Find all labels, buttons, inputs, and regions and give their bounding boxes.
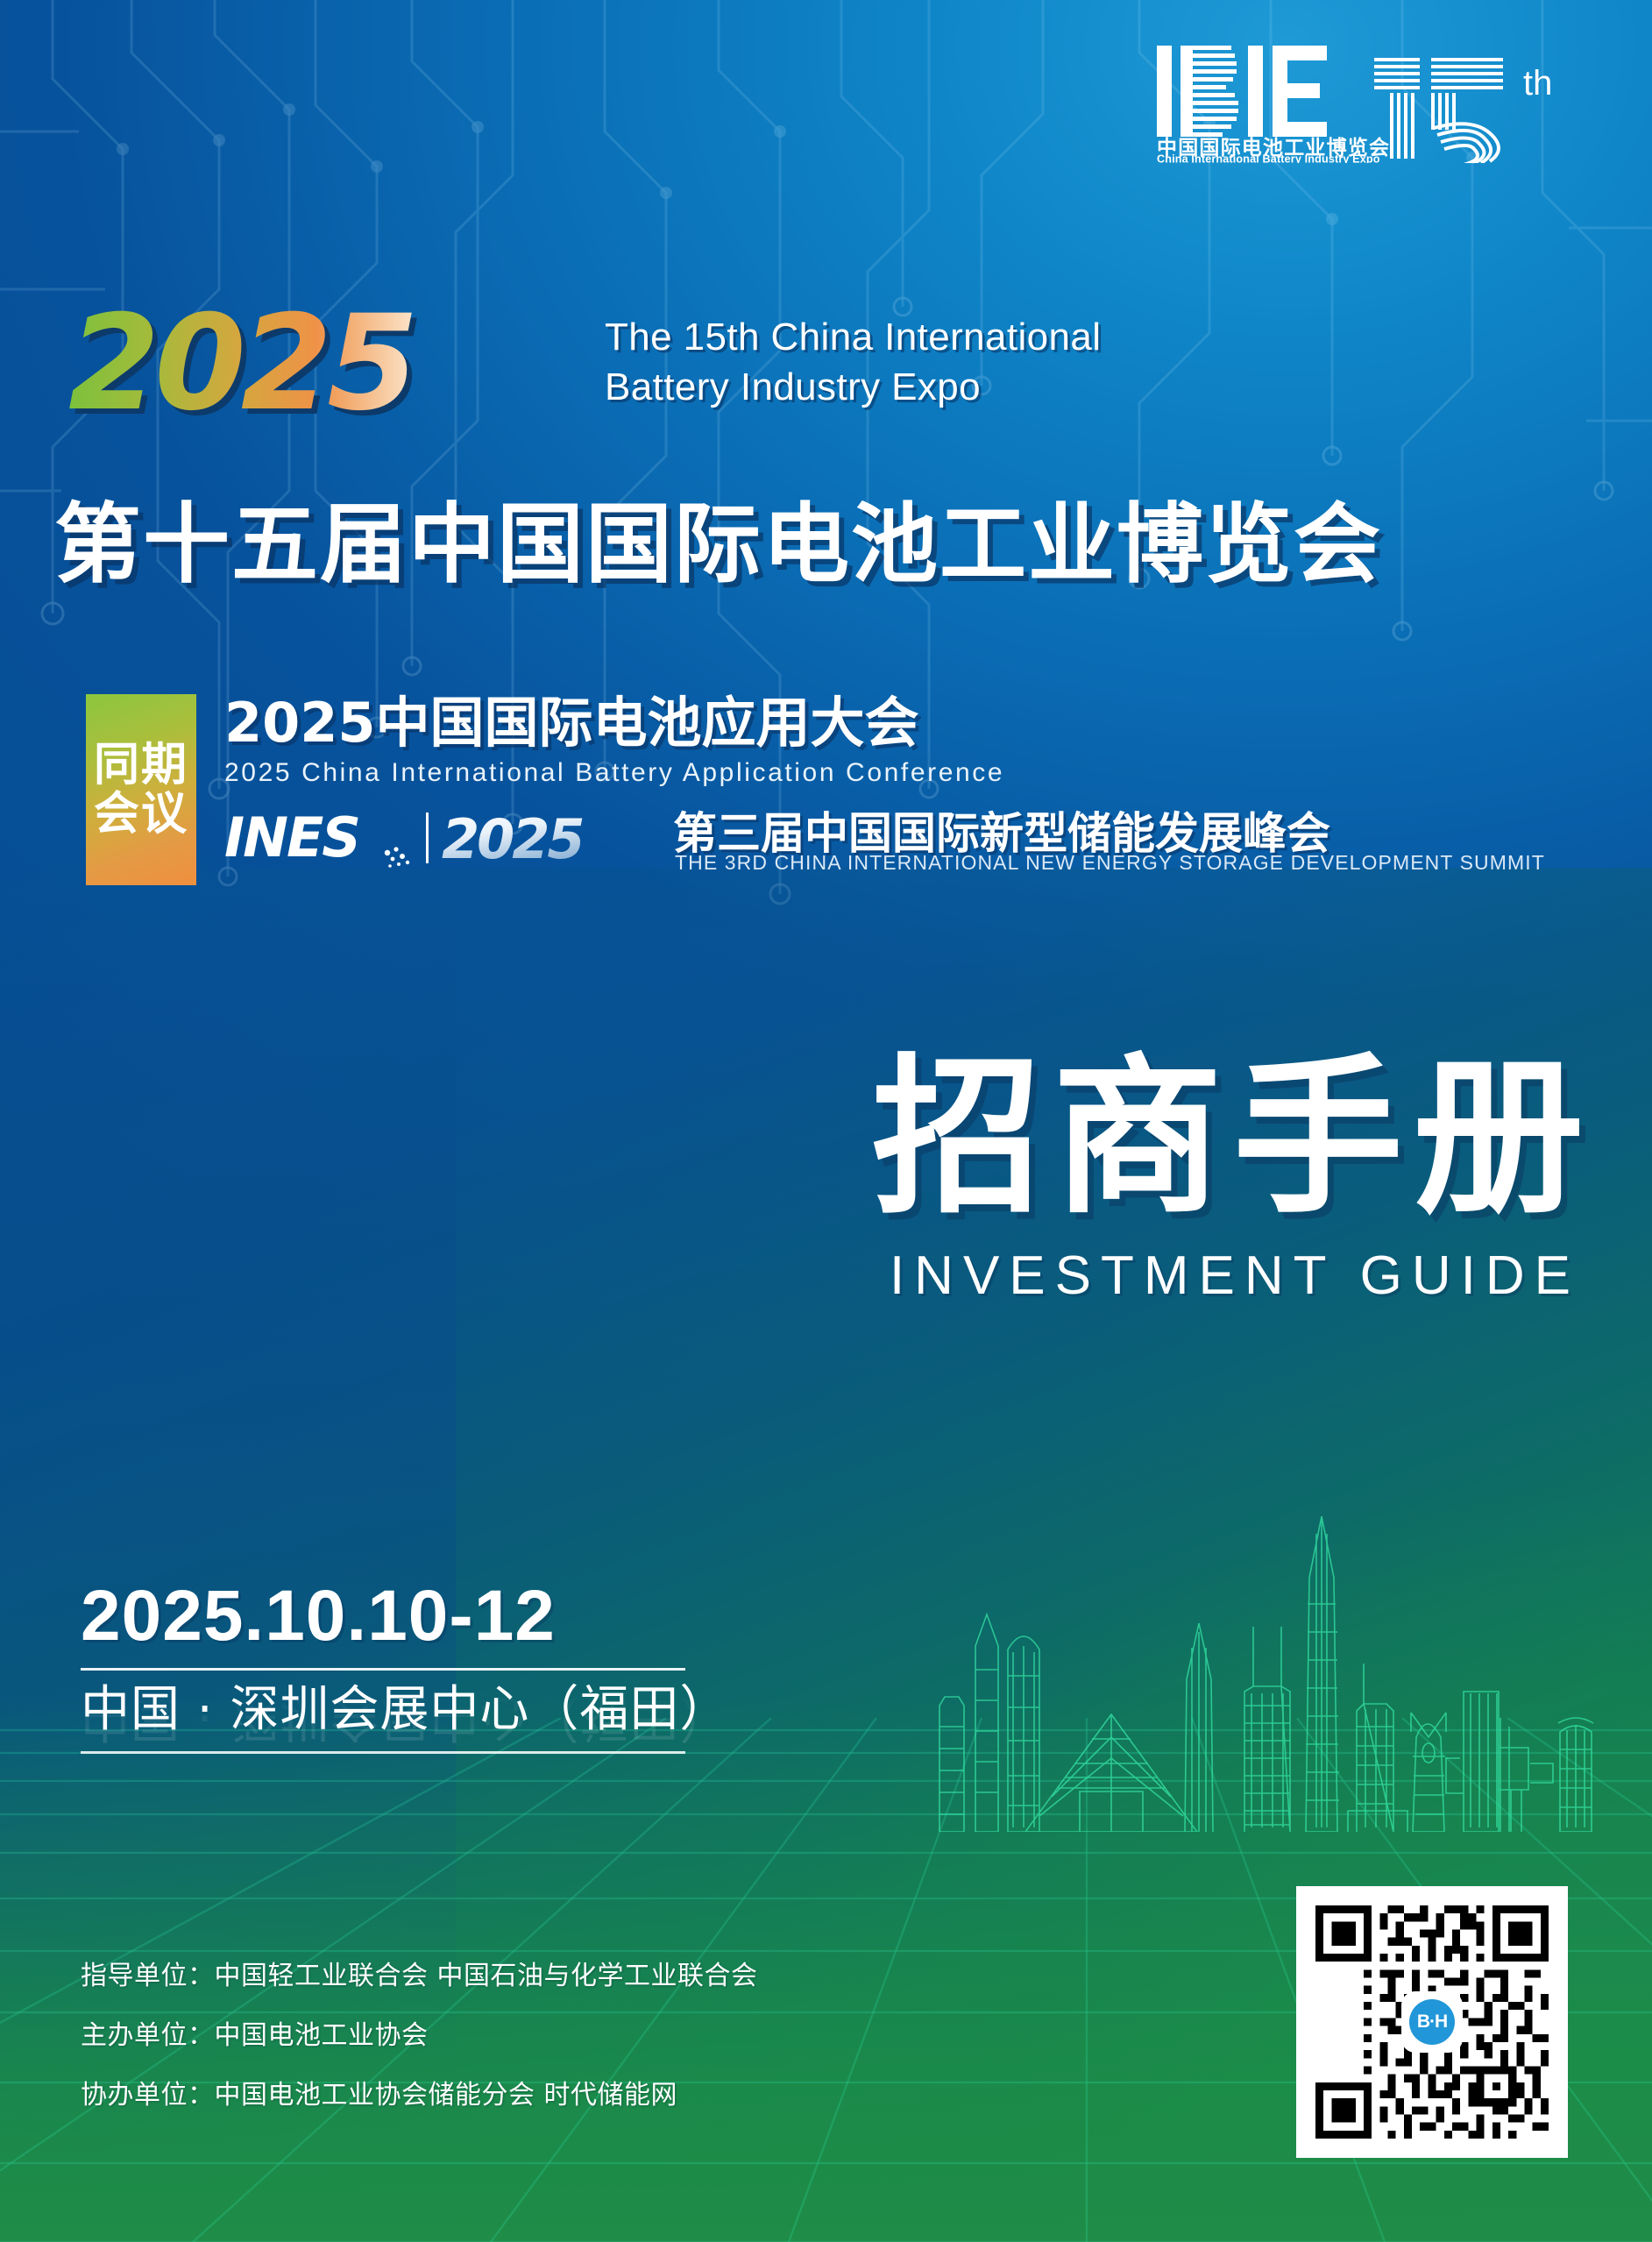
- conference2-row: INES 2025 第三届中国国际新型储能发展峰会 THE 3RD CHINA …: [224, 802, 1451, 877]
- headline-block: 招商手册 INVESTMENT GUIDE: [620, 1052, 1584, 1307]
- organizers-block: 指导单位：中国轻工业联合会 中国石油与化学工业联合会 主办单位：中国电池工业协会…: [81, 1963, 957, 2142]
- qr-center-logo-mark: B·H: [1409, 1999, 1455, 2045]
- poster-canvas: th 中国国际电池工业博览会 China International Batte…: [0, 0, 1652, 2242]
- ines-logo: INES 2025: [224, 804, 663, 874]
- event-venue-reflection: 中国 · 深圳会展中心（福田）: [81, 1686, 712, 1757]
- headline-chinese: 招商手册: [620, 1052, 1594, 1225]
- headline-english: INVESTMENT GUIDE: [620, 1245, 1580, 1307]
- badge-line-1: 同期: [94, 741, 188, 790]
- ibie-logo: th 中国国际电池工业博览会 China International Batte…: [1155, 40, 1598, 163]
- qr-code-card[interactable]: B·H: [1296, 1886, 1568, 2158]
- badge-line-2: 会议: [94, 790, 188, 839]
- ines-wordmark: INES: [224, 805, 359, 869]
- qr-center-logo: B·H: [1403, 1993, 1461, 2051]
- year-2025-graphic: 2025 2025: [61, 302, 535, 452]
- conference2-en: THE 3RD CHINA INTERNATIONAL NEW ENERGY S…: [675, 851, 1545, 875]
- title-english: The 15th China International Battery Ind…: [605, 312, 1101, 412]
- concurrent-content: 2025中国国际电池应用大会 2025 China International …: [224, 694, 1451, 877]
- organizer-line-guidance: 指导单位：中国轻工业联合会 中国石油与化学工业联合会: [81, 1963, 957, 1990]
- title-chinese: 第十五届中国国际电池工业博览会: [54, 473, 1382, 600]
- title-year-row: 2025 2025 The 15th China International B…: [61, 314, 1288, 445]
- conference1-en: 2025 China International Battery Applica…: [224, 758, 1451, 788]
- event-details-block: 2025.10.10-12 中国 · 深圳会展中心（福田） 中国 · 深圳会展中…: [81, 1578, 712, 1828]
- organizer-line-coorganizer: 协办单位：中国电池工业协会储能分会 时代储能网: [81, 2082, 957, 2109]
- ines-year: 2025: [442, 807, 583, 871]
- concurrent-badge: 同期 会议: [86, 694, 196, 885]
- conference1-cn: 2025中国国际电池应用大会: [224, 694, 1451, 753]
- qr-code-inner: B·H: [1315, 1905, 1549, 2139]
- svg-text:th: th: [1523, 64, 1552, 103]
- logo-en-name: China International Battery Industry Exp…: [1157, 153, 1380, 164]
- concurrent-conferences-block: 同期 会议 2025中国国际电池应用大会 2025 China Internat…: [86, 701, 1453, 894]
- divider-top: [81, 1668, 685, 1671]
- event-date: 2025.10.10-12: [81, 1578, 712, 1656]
- year-text: 2025: [68, 302, 413, 440]
- organizer-line-host: 主办单位：中国电池工业协会: [81, 2023, 957, 2049]
